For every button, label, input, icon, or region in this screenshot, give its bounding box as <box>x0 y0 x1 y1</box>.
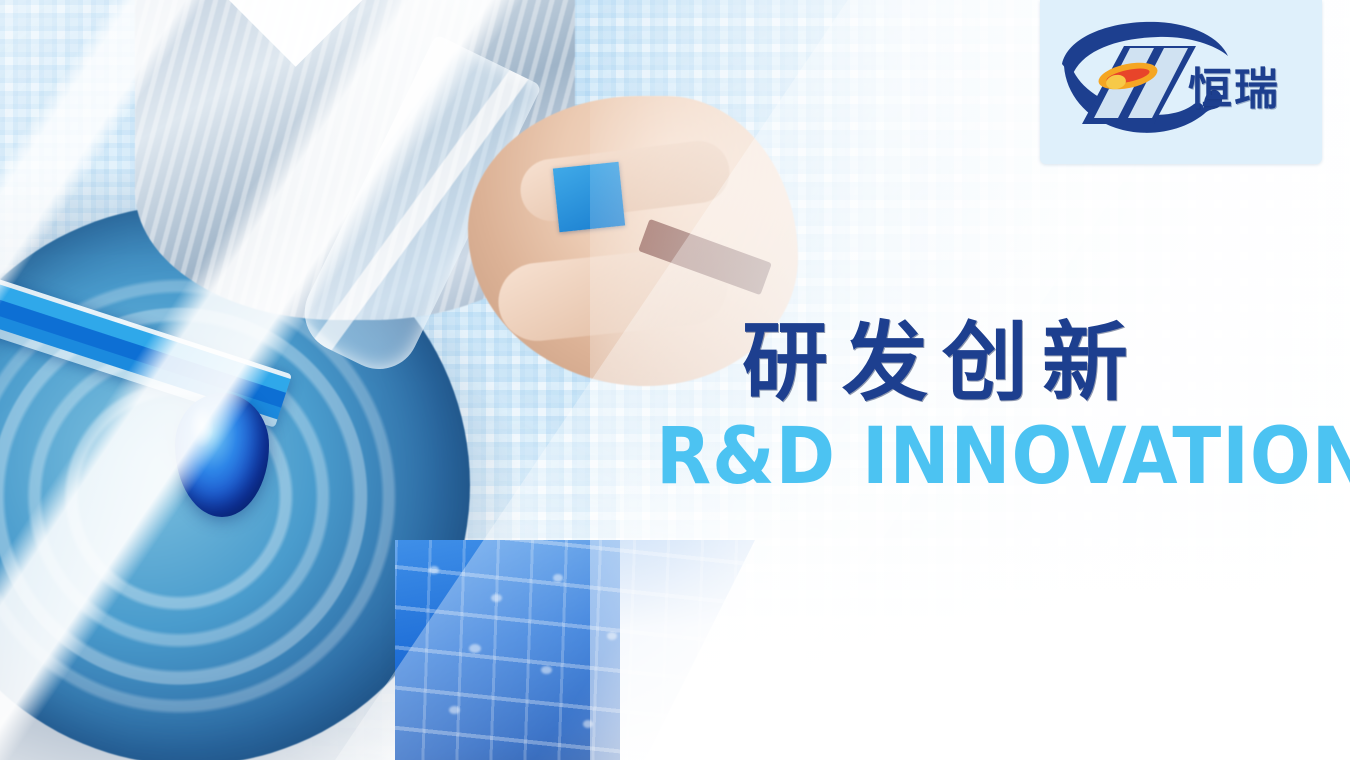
rd-innovation-banner: 研发创新 R&D INNOVATION 恒瑞 <box>0 0 1350 760</box>
company-name-chinese: 恒瑞 <box>1188 68 1280 112</box>
test-tube-label <box>553 162 625 233</box>
company-logo-plate: 恒瑞 <box>1040 0 1322 164</box>
headline-block: 研发创新 R&D INNOVATION <box>742 320 1342 494</box>
headline-title-chinese: 研发创新 <box>742 320 1342 406</box>
headline-title-english: R&D INNOVATION <box>656 420 1350 494</box>
